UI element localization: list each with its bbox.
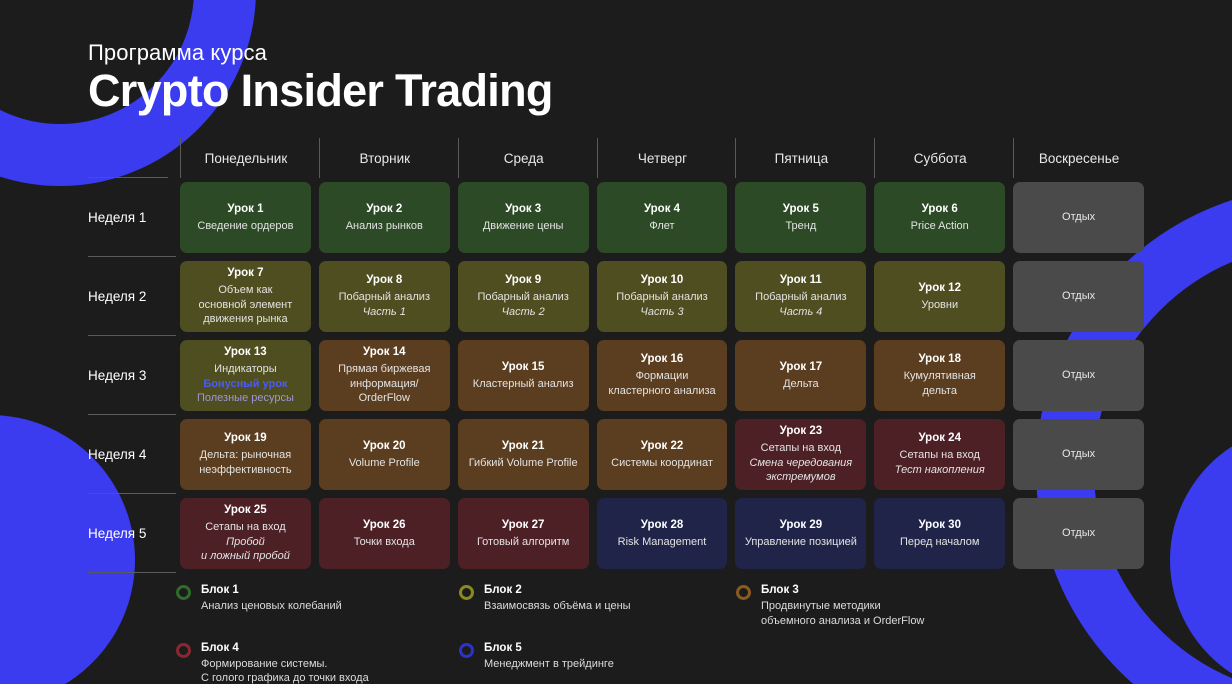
week-label: Неделя 1: [88, 210, 146, 225]
legend-description: Анализ ценовых колебаний: [201, 599, 342, 614]
lesson-title: Урок 10: [641, 273, 684, 288]
lesson-card[interactable]: Урок 8Побарный анализЧасть 1: [319, 261, 450, 332]
lesson-description: Уровни: [921, 298, 958, 313]
lesson-card[interactable]: Урок 16Формации кластерного анализа: [597, 340, 728, 411]
legend-color-ring-icon: [459, 643, 474, 658]
schedule-cell-wrapper: Урок 6Price Action: [870, 178, 1009, 257]
lesson-card[interactable]: Урок 13ИндикаторыБонусный урокПолезные р…: [180, 340, 311, 411]
week-label: Неделя 5: [88, 526, 146, 541]
week-label-cell: Неделя 1: [88, 178, 176, 257]
lesson-description-text: Отдых: [1062, 368, 1095, 383]
lesson-title: Урок 17: [780, 360, 823, 375]
lesson-description: Сведение ордеров: [197, 219, 293, 234]
rest-label: Отдых: [1062, 447, 1095, 462]
lesson-title: Урок 4: [644, 202, 680, 217]
legend-text: Блок 2Взаимосвязь объёма и цены: [484, 583, 631, 614]
lesson-title: Урок 27: [502, 518, 545, 533]
lesson-description-text: Объем как основной элемент движения рынк…: [199, 283, 293, 327]
lesson-description-text: Кластерный анализ: [473, 377, 574, 392]
lesson-title: Урок 11: [780, 273, 822, 288]
day-header-label: Вторник: [319, 138, 450, 178]
lesson-description: Сетапы на входСмена чередования экстрему…: [750, 441, 853, 485]
lesson-title: Урок 20: [363, 439, 406, 454]
lesson-card[interactable]: Урок 27Готовый алгоритм: [458, 498, 589, 569]
lesson-card[interactable]: Урок 20Volume Profile: [319, 419, 450, 490]
schedule-cell-wrapper: Отдых: [1009, 415, 1148, 494]
legend-text: Блок 5Менеджмент в трейдинге: [484, 641, 614, 672]
legend-description: Формирование системы. С голого графика д…: [201, 657, 369, 684]
lesson-description-text: Перед началом: [900, 535, 980, 550]
schedule-grid: ПонедельникВторникСредаЧетвергПятницаСуб…: [88, 138, 1148, 573]
lesson-description-text: Побарный анализ: [755, 290, 846, 305]
rest-day-card[interactable]: Отдых: [1013, 498, 1144, 569]
lesson-title: Урок 8: [366, 273, 402, 288]
schedule-cell-wrapper: Урок 23Сетапы на входСмена чередования э…: [731, 415, 870, 494]
lesson-title: Урок 14: [363, 345, 406, 360]
lesson-description-text: Побарный анализ: [339, 290, 430, 305]
lesson-title: Урок 30: [918, 518, 961, 533]
lesson-card[interactable]: Урок 19Дельта: рыночная неэффективность: [180, 419, 311, 490]
lesson-title: Урок 1: [227, 202, 263, 217]
schedule-cell-wrapper: Урок 28Risk Management: [593, 494, 732, 573]
lesson-card[interactable]: Урок 11Побарный анализЧасть 4: [735, 261, 866, 332]
lesson-description: Готовый алгоритм: [477, 535, 569, 550]
lesson-card[interactable]: Урок 2Анализ рынков: [319, 182, 450, 253]
legend-title: Блок 4: [201, 641, 369, 656]
course-program-slide: Программа курса Crypto Insider Trading П…: [0, 0, 1232, 684]
schedule-cell-wrapper: Отдых: [1009, 257, 1148, 336]
schedule-cell-wrapper: Отдых: [1009, 178, 1148, 257]
day-header-3: Среда: [454, 138, 593, 178]
schedule-cell-wrapper: Урок 30Перед началом: [870, 494, 1009, 573]
lesson-card[interactable]: Урок 29Управление позицией: [735, 498, 866, 569]
schedule-cell-wrapper: Урок 24Сетапы на входТест накопления: [870, 415, 1009, 494]
lesson-title: Урок 5: [783, 202, 819, 217]
week-label: Неделя 3: [88, 368, 146, 383]
legend-description: Взаимосвязь объёма и цены: [484, 599, 631, 614]
lesson-description: Анализ рынков: [346, 219, 423, 234]
lesson-card[interactable]: Урок 18Кумулятивная дельта: [874, 340, 1005, 411]
schedule-cell-wrapper: Урок 22Системы координат: [593, 415, 732, 494]
lesson-description: Кластерный анализ: [473, 377, 574, 392]
lesson-description: ИндикаторыБонусный урокПолезные ресурсы: [197, 362, 294, 406]
schedule-cell-wrapper: Отдых: [1009, 336, 1148, 415]
week-label-cell: Неделя 4: [88, 415, 176, 494]
week-row: Неделя 2Урок 7Объем как основной элемент…: [88, 257, 1148, 336]
day-header-7: Воскресенье: [1009, 138, 1148, 178]
schedule-cell-wrapper: Урок 29Управление позицией: [731, 494, 870, 573]
lesson-title: Урок 9: [505, 273, 541, 288]
schedule-cell-wrapper: Урок 2Анализ рынков: [315, 178, 454, 257]
lesson-description: Флет: [649, 219, 674, 234]
legend-color-ring-icon: [736, 585, 751, 600]
lesson-description: Системы координат: [611, 456, 713, 471]
day-header-label: Понедельник: [180, 138, 311, 178]
lesson-description-text: Движение цены: [483, 219, 564, 234]
header-corner-cell: [88, 138, 176, 178]
lesson-description-text: Индикаторы: [197, 362, 294, 377]
day-header-label: Среда: [458, 138, 589, 178]
lesson-description: Побарный анализЧасть 2: [477, 290, 568, 319]
lesson-title: Урок 22: [641, 439, 684, 454]
rest-day-card[interactable]: Отдых: [1013, 261, 1144, 332]
lesson-description-subtitle: Часть 3: [616, 305, 707, 320]
week-label-cell: Неделя 5: [88, 494, 176, 573]
week-row: Неделя 3Урок 13ИндикаторыБонусный урокПо…: [88, 336, 1148, 415]
week-row: Неделя 5Урок 25Сетапы на входПробой и ло…: [88, 494, 1148, 573]
schedule-cell-wrapper: Урок 21Гибкий Volume Profile: [454, 415, 593, 494]
schedule-cell-wrapper: Урок 8Побарный анализЧасть 1: [315, 257, 454, 336]
lesson-description: Управление позицией: [745, 535, 857, 550]
legend-item: Блок 5Менеджмент в трейдинге: [459, 641, 736, 684]
lesson-card[interactable]: Урок 30Перед началом: [874, 498, 1005, 569]
lesson-card[interactable]: Урок 12Уровни: [874, 261, 1005, 332]
week-row: Неделя 4Урок 19Дельта: рыночная неэффект…: [88, 415, 1148, 494]
legend-color-ring-icon: [459, 585, 474, 600]
legend-item: Блок 2Взаимосвязь объёма и цены: [459, 583, 736, 629]
lesson-description-text: Анализ рынков: [346, 219, 423, 234]
lesson-description: Сетапы на входТест накопления: [895, 448, 985, 477]
schedule-cell-wrapper: Урок 11Побарный анализЧасть 4: [731, 257, 870, 336]
lesson-description-text: Побарный анализ: [616, 290, 707, 305]
lesson-card[interactable]: Урок 4Флет: [597, 182, 728, 253]
schedule-cell-wrapper: Урок 12Уровни: [870, 257, 1009, 336]
week-label-cell: Неделя 3: [88, 336, 176, 415]
legend-title: Блок 2: [484, 583, 631, 598]
rest-label: Отдых: [1062, 210, 1095, 225]
legend-item: Блок 3Продвинутые методики объемного ана…: [736, 583, 1166, 629]
day-header-label: Пятница: [735, 138, 866, 178]
lesson-title: Урок 16: [641, 352, 684, 367]
lesson-card[interactable]: Урок 7Объем как основной элемент движени…: [180, 261, 311, 332]
lesson-description-subtitle: Пробой и ложный пробой: [201, 535, 290, 564]
lesson-description: Гибкий Volume Profile: [469, 456, 578, 471]
schedule-cell-wrapper: Урок 15Кластерный анализ: [454, 336, 593, 415]
legend-title: Блок 5: [484, 641, 614, 656]
lesson-description-text: Кумулятивная дельта: [904, 369, 976, 398]
rest-day-card[interactable]: Отдых: [1013, 182, 1144, 253]
lesson-description-text: Сведение ордеров: [197, 219, 293, 234]
lesson-description-subtitle: Часть 2: [477, 305, 568, 320]
lesson-card[interactable]: Урок 21Гибкий Volume Profile: [458, 419, 589, 490]
lesson-description: Побарный анализЧасть 3: [616, 290, 707, 319]
schedule-cell-wrapper: Урок 25Сетапы на входПробой и ложный про…: [176, 494, 315, 573]
lesson-description-text: Уровни: [921, 298, 958, 313]
legend-color-ring-icon: [176, 643, 191, 658]
lesson-card[interactable]: Урок 6Price Action: [874, 182, 1005, 253]
day-header-5: Пятница: [731, 138, 870, 178]
lesson-title: Урок 3: [505, 202, 541, 217]
lesson-title: Урок 24: [918, 431, 961, 446]
lesson-description-text: Системы координат: [611, 456, 713, 471]
lesson-description: Risk Management: [618, 535, 707, 550]
day-header-6: Суббота: [870, 138, 1009, 178]
lesson-description-text: Тренд: [785, 219, 816, 234]
rest-day-card[interactable]: Отдых: [1013, 419, 1144, 490]
schedule-cell-wrapper: Урок 20Volume Profile: [315, 415, 454, 494]
rest-label: Отдых: [1062, 368, 1095, 383]
legend-title: Блок 1: [201, 583, 342, 598]
lesson-description-text: Сетапы на вход: [895, 448, 985, 463]
day-header-2: Вторник: [315, 138, 454, 178]
schedule-cell-wrapper: Урок 7Объем как основной элемент движени…: [176, 257, 315, 336]
legend-text: Блок 1Анализ ценовых колебаний: [201, 583, 342, 614]
lesson-title: Урок 6: [922, 202, 958, 217]
lesson-description-text: Точки входа: [354, 535, 415, 550]
legend-description: Менеджмент в трейдинге: [484, 657, 614, 672]
lesson-title: Урок 23: [780, 424, 823, 439]
lesson-title: Урок 18: [918, 352, 961, 367]
lesson-card[interactable]: Урок 1Сведение ордеров: [180, 182, 311, 253]
legend: Блок 1Анализ ценовых колебанийБлок 2Взаи…: [176, 583, 1166, 684]
lesson-title: Урок 25: [224, 503, 267, 518]
lesson-description: Кумулятивная дельта: [904, 369, 976, 398]
lesson-description-text: Побарный анализ: [477, 290, 568, 305]
schedule-header-row: ПонедельникВторникСредаЧетвергПятницаСуб…: [88, 138, 1148, 178]
lesson-card[interactable]: Урок 25Сетапы на входПробой и ложный про…: [180, 498, 311, 569]
legend-description: Продвинутые методики объемного анализа и…: [761, 599, 924, 629]
lesson-description-subtitle: Часть 4: [755, 305, 846, 320]
lesson-description-subtitle: Тест накопления: [895, 463, 985, 478]
schedule-cell-wrapper: Урок 16Формации кластерного анализа: [593, 336, 732, 415]
schedule-cell-wrapper: Отдых: [1009, 494, 1148, 573]
lesson-card[interactable]: Урок 28Risk Management: [597, 498, 728, 569]
lesson-card[interactable]: Урок 24Сетапы на входТест накопления: [874, 419, 1005, 490]
legend-item: Блок 4Формирование системы. С голого гра…: [176, 641, 459, 684]
schedule-cell-wrapper: Урок 10Побарный анализЧасть 3: [593, 257, 732, 336]
day-header-label: Воскресенье: [1013, 138, 1144, 178]
lesson-description-text: Готовый алгоритм: [477, 535, 569, 550]
lesson-card[interactable]: Урок 14Прямая биржевая информация/ Order…: [319, 340, 450, 411]
schedule-cell-wrapper: Урок 1Сведение ордеров: [176, 178, 315, 257]
lesson-description-text: Price Action: [911, 219, 969, 234]
lesson-description: Формации кластерного анализа: [608, 369, 715, 398]
lesson-title: Урок 13: [224, 345, 267, 360]
lesson-card[interactable]: Урок 10Побарный анализЧасть 3: [597, 261, 728, 332]
rest-day-card[interactable]: Отдых: [1013, 340, 1144, 411]
schedule-cell-wrapper: Урок 4Флет: [593, 178, 732, 257]
lesson-card[interactable]: Урок 3Движение цены: [458, 182, 589, 253]
lesson-title: Урок 28: [641, 518, 684, 533]
lesson-description: Сетапы на входПробой и ложный пробой: [201, 520, 290, 564]
lesson-description: Перед началом: [900, 535, 980, 550]
schedule-cell-wrapper: Урок 19Дельта: рыночная неэффективность: [176, 415, 315, 494]
schedule-cell-wrapper: Урок 14Прямая биржевая информация/ Order…: [315, 336, 454, 415]
lesson-description: Побарный анализЧасть 1: [339, 290, 430, 319]
legend-title: Блок 3: [761, 583, 924, 598]
lesson-description-text: Risk Management: [618, 535, 707, 550]
rest-label: Отдых: [1062, 526, 1095, 541]
schedule-cell-wrapper: Урок 5Тренд: [731, 178, 870, 257]
lesson-description-text: Формации кластерного анализа: [608, 369, 715, 398]
schedule-cell-wrapper: Урок 9Побарный анализЧасть 2: [454, 257, 593, 336]
lesson-description-text: Отдых: [1062, 526, 1095, 541]
course-kicker: Программа курса: [88, 40, 553, 65]
day-header-4: Четверг: [593, 138, 732, 178]
lesson-description: Дельта: рыночная неэффективность: [199, 448, 291, 477]
lesson-description: Дельта: [783, 377, 819, 392]
lesson-description: Price Action: [911, 219, 969, 234]
lesson-title: Урок 21: [502, 439, 545, 454]
lesson-description: Volume Profile: [349, 456, 420, 471]
lesson-description: Тренд: [785, 219, 816, 234]
day-header-1: Понедельник: [176, 138, 315, 178]
lesson-description-text: Флет: [649, 219, 674, 234]
lesson-card[interactable]: Урок 17Дельта: [735, 340, 866, 411]
lesson-card[interactable]: Урок 5Тренд: [735, 182, 866, 253]
rest-label: Отдых: [1062, 289, 1095, 304]
legend-color-ring-icon: [176, 585, 191, 600]
lesson-description-text: Управление позицией: [745, 535, 857, 550]
schedule-cell-wrapper: Урок 18Кумулятивная дельта: [870, 336, 1009, 415]
schedule-cell-wrapper: Урок 17Дельта: [731, 336, 870, 415]
lesson-title: Урок 7: [227, 266, 263, 281]
lesson-description-text: Отдых: [1062, 447, 1095, 462]
lesson-card[interactable]: Урок 23Сетапы на входСмена чередования э…: [735, 419, 866, 490]
lesson-description-text: Отдых: [1062, 289, 1095, 304]
lesson-description: Прямая биржевая информация/ OrderFlow: [338, 362, 430, 406]
lesson-title: Урок 29: [780, 518, 823, 533]
lesson-description-text: Гибкий Volume Profile: [469, 456, 578, 471]
week-label-cell: Неделя 2: [88, 257, 176, 336]
week-label: Неделя 4: [88, 447, 146, 462]
lesson-description-subtitle: Часть 1: [339, 305, 430, 320]
lesson-card[interactable]: Урок 9Побарный анализЧасть 2: [458, 261, 589, 332]
week-row: Неделя 1Урок 1Сведение ордеровУрок 2Анал…: [88, 178, 1148, 257]
day-header-label: Суббота: [874, 138, 1005, 178]
schedule-cell-wrapper: Урок 27Готовый алгоритм: [454, 494, 593, 573]
legend-item: Блок 1Анализ ценовых колебаний: [176, 583, 459, 629]
bonus-lesson-label[interactable]: Бонусный урок: [197, 377, 294, 392]
schedule-cell-wrapper: Урок 3Движение цены: [454, 178, 593, 257]
lesson-card[interactable]: Урок 15Кластерный анализ: [458, 340, 589, 411]
lesson-description-text: Сетапы на вход: [750, 441, 853, 456]
page-title: Crypto Insider Trading: [88, 66, 553, 116]
lesson-description-text: Volume Profile: [349, 456, 420, 471]
lesson-description: Объем как основной элемент движения рынк…: [199, 283, 293, 327]
lesson-title: Урок 26: [363, 518, 406, 533]
lesson-description: Побарный анализЧасть 4: [755, 290, 846, 319]
lesson-description: Движение цены: [483, 219, 564, 234]
lesson-title: Урок 12: [918, 281, 961, 296]
lesson-description-subtitle: Смена чередования экстремумов: [750, 456, 853, 485]
day-header-label: Четверг: [597, 138, 728, 178]
schedule-cell-wrapper: Урок 13ИндикаторыБонусный урокПолезные р…: [176, 336, 315, 415]
legend-text: Блок 3Продвинутые методики объемного ана…: [761, 583, 924, 629]
bonus-lesson-sublabel[interactable]: Полезные ресурсы: [197, 391, 294, 406]
lesson-description: Точки входа: [354, 535, 415, 550]
lesson-title: Урок 2: [366, 202, 402, 217]
schedule-cell-wrapper: Урок 26Точки входа: [315, 494, 454, 573]
lesson-description-text: Дельта: [783, 377, 819, 392]
lesson-title: Урок 15: [502, 360, 545, 375]
lesson-card[interactable]: Урок 22Системы координат: [597, 419, 728, 490]
lesson-description-text: Прямая биржевая информация/ OrderFlow: [338, 362, 430, 406]
lesson-description-text: Дельта: рыночная неэффективность: [199, 448, 291, 477]
lesson-title: Урок 19: [224, 431, 267, 446]
lesson-description-text: Отдых: [1062, 210, 1095, 225]
lesson-card[interactable]: Урок 26Точки входа: [319, 498, 450, 569]
legend-text: Блок 4Формирование системы. С голого гра…: [201, 641, 369, 684]
lesson-description-text: Сетапы на вход: [201, 520, 290, 535]
week-label: Неделя 2: [88, 289, 146, 304]
header: Программа курса Crypto Insider Trading: [88, 40, 553, 117]
